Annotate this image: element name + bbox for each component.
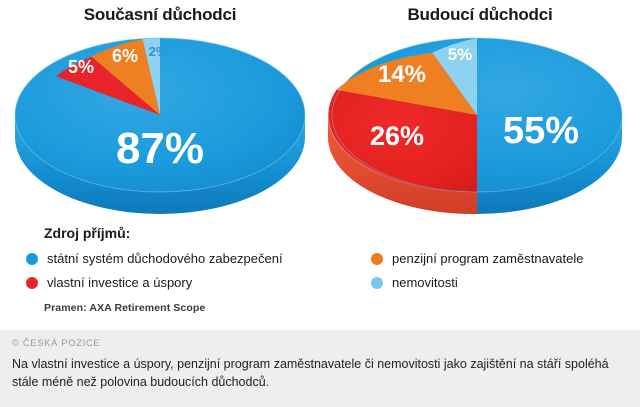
legend-label-state-pension: státní systém důchodového zabezpečení [47,251,283,266]
chart-title-current-retirees: Současní důchodci [0,5,320,25]
pie-label-lightblue-left: 2% [149,44,168,59]
pie-label-red-right: 26% [370,121,424,151]
pie-label-orange-right: 14% [378,61,426,88]
pie-label-blue-right: 55% [503,110,579,152]
legend-item-real-estate: nemovitosti [371,275,458,290]
pie-label-lightblue-right: 5% [448,45,473,64]
legend-color-dot-lightblue [371,277,383,289]
legend-title: Zdroj příjmů: [44,225,130,241]
pie-chart-future-retirees: 55% 26% 14% 5% [325,30,630,225]
legend-item-employer-pension: penzijní program zaměstnavatele [371,251,584,266]
legend-color-dot-blue [26,253,38,265]
legend-label-real-estate: nemovitosti [392,275,458,290]
pie-label-red-left: 5% [68,57,94,77]
charts-area: Současní důchodci Budoucí důchodci [0,0,640,222]
chart-title-future-retirees: Budoucí důchodci [320,5,640,25]
legend: Zdroj příjmů: státní systém důchodového … [0,218,640,328]
source-note: Pramen: AXA Retirement Scope [44,302,205,314]
pie-label-blue-left: 87% [116,124,204,173]
pie-label-orange-left: 6% [112,46,138,66]
legend-color-dot-orange [371,253,383,265]
pie-chart-current-retirees: 87% 5% 6% 2% [8,30,313,220]
caption-text: Na vlastní investice a úspory, penzijní … [12,355,628,391]
legend-color-dot-red [26,277,38,289]
copyright-line: © ČESKÁ POZICE [12,338,628,349]
caption-band: © ČESKÁ POZICE Na vlastní investice a ús… [0,330,640,407]
legend-label-own-investments: vlastní investice a úspory [47,275,192,290]
legend-item-state-pension: státní systém důchodového zabezpečení [26,251,283,266]
legend-item-own-investments: vlastní investice a úspory [26,275,192,290]
infographic-root: Současní důchodci Budoucí důchodci [0,0,640,407]
legend-label-employer-pension: penzijní program zaměstnavatele [392,251,584,266]
